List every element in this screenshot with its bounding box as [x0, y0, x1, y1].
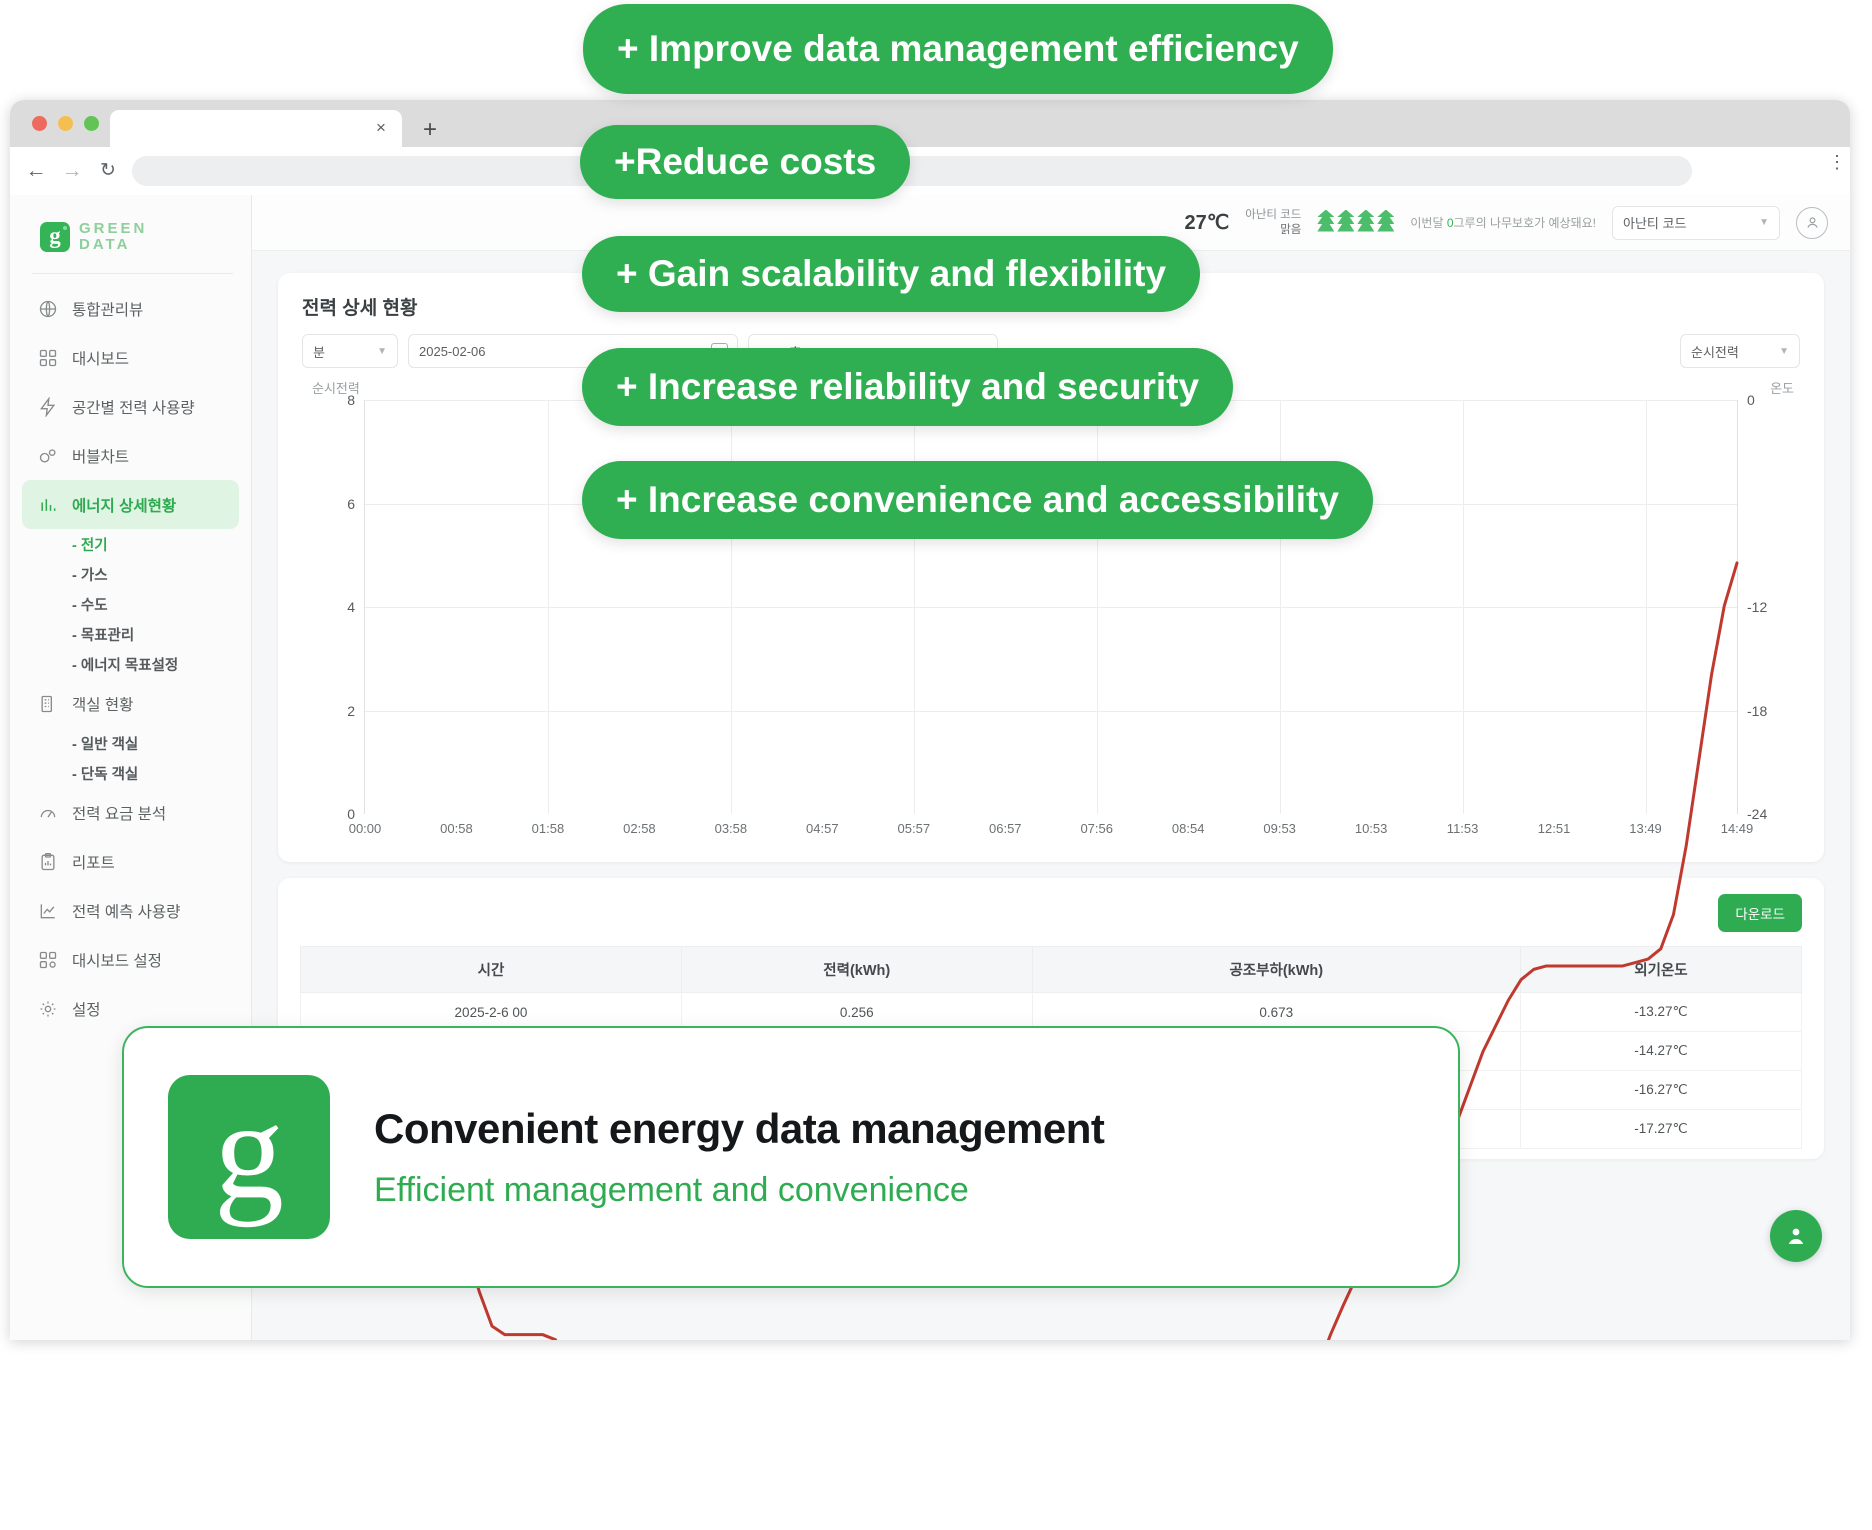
avatar[interactable] — [1796, 207, 1828, 239]
y-axis-label-right: 온도 — [1770, 378, 1794, 397]
energy-chart: 순시전력 온도 02468-24-18-12000:0000:5801:5802… — [302, 378, 1800, 848]
tree-icon — [1377, 210, 1394, 236]
browser-menu-icon[interactable]: ⋮ — [1828, 158, 1834, 184]
tree-icon — [1337, 210, 1354, 236]
grid-gear-icon — [38, 950, 58, 970]
tree-note-prefix: 이번달 — [1410, 216, 1446, 230]
benefit-pill-3: + Gain scalability and flexibility — [582, 236, 1200, 312]
support-fab-button[interactable] — [1770, 1210, 1822, 1262]
chevron-down-icon: ▼ — [1759, 217, 1769, 228]
weather-condition: 맑음 — [1245, 223, 1301, 237]
brand-line-2: DATA — [79, 237, 147, 253]
chevron-down-icon: ▼ — [377, 346, 387, 357]
sidebar-item-dashboard[interactable]: 대시보드 — [22, 333, 239, 382]
trend-icon — [38, 901, 58, 921]
benefit-pill-1: + Improve data management efficiency — [583, 4, 1333, 94]
browser-titlebar: × + — [10, 100, 1850, 147]
y-axis-tick: 2 — [347, 703, 355, 719]
temperature-value: 27℃ — [1185, 210, 1230, 235]
bolt-icon — [38, 397, 58, 417]
sidebar-item-power-rate-analysis[interactable]: 전력 요금 분석 — [22, 788, 239, 837]
benefit-pill-5: + Increase convenience and accessibility — [582, 461, 1373, 539]
site-select-value: 아난티 코드 — [1623, 213, 1686, 232]
sidebar-subitem-gas[interactable]: - 가스 — [10, 559, 251, 589]
sidebar-item-integrated-view[interactable]: 통합관리뷰 — [22, 284, 239, 333]
clipboard-icon — [38, 852, 58, 872]
banner-logo-icon: g — [168, 1075, 330, 1239]
unit-select-value: 분 — [313, 342, 325, 361]
weather-place: 아난티 코드 — [1245, 208, 1301, 222]
metric-select[interactable]: 순시전력 ▼ — [1680, 334, 1800, 368]
sidebar-subitem-energy-goal-setting[interactable]: - 에너지 목표설정 — [10, 649, 251, 679]
y-axis-tick: 8 — [347, 392, 355, 408]
gauge-icon — [38, 803, 58, 823]
y-axis-tick-right: -12 — [1747, 599, 1767, 615]
brand-line-1: GREEN — [79, 221, 147, 237]
globe-icon — [38, 299, 58, 319]
sidebar-divider — [32, 273, 233, 274]
banner-subline: Efficient management and convenience — [374, 1171, 1104, 1210]
support-agent-icon — [1784, 1224, 1808, 1248]
sidebar-item-label: 공간별 전력 사용량 — [72, 396, 195, 418]
sidebar-subitem-private-room[interactable]: - 단독 객실 — [10, 758, 251, 788]
sidebar-item-label: 대시보드 — [72, 347, 129, 369]
back-icon[interactable]: ← — [24, 159, 48, 183]
building-icon — [38, 694, 58, 714]
maximize-window-button[interactable] — [84, 116, 99, 131]
weather-info: 아난티 코드 맑음 — [1245, 208, 1301, 237]
sidebar-item-label: 전력 예측 사용량 — [72, 900, 180, 922]
banner-headline: Convenient energy data management — [374, 1105, 1104, 1153]
browser-tab[interactable]: × — [110, 110, 402, 147]
browser-navbar: ← → ↻ ⋮ — [10, 147, 1850, 195]
tree-icon — [1357, 210, 1374, 236]
sidebar-subitem-goal-management[interactable]: - 목표관리 — [10, 619, 251, 649]
sidebar-item-label: 통합관리뷰 — [72, 298, 143, 320]
sidebar-item-dashboard-settings[interactable]: 대시보드 설정 — [22, 935, 239, 984]
site-select[interactable]: 아난티 코드 ▼ — [1612, 206, 1780, 240]
benefit-pill-4: + Increase reliability and security — [582, 348, 1233, 426]
y-axis-tick-right: 0 — [1747, 392, 1755, 408]
benefit-pill-2: +Reduce costs — [580, 125, 910, 199]
sidebar-subitem-electricity[interactable]: - 전기 — [10, 529, 251, 559]
bubble-icon — [38, 446, 58, 466]
sidebar-subitem-water[interactable]: - 수도 — [10, 589, 251, 619]
unit-select[interactable]: 분 ▼ — [302, 334, 398, 368]
sidebar-item-bubble-chart[interactable]: 버블차트 — [22, 431, 239, 480]
tree-icon — [1317, 210, 1334, 236]
banner-logo-letter: g — [214, 1081, 284, 1221]
sidebar-item-label: 대시보드 설정 — [72, 949, 162, 971]
close-window-button[interactable] — [32, 116, 47, 131]
y-axis-tick: 6 — [347, 496, 355, 512]
window-controls[interactable] — [32, 116, 99, 131]
minimize-window-button[interactable] — [58, 116, 73, 131]
sidebar-item-space-power-usage[interactable]: 공간별 전력 사용량 — [22, 382, 239, 431]
grid-icon — [38, 348, 58, 368]
chevron-down-icon: ▼ — [1779, 346, 1789, 357]
close-tab-icon[interactable]: × — [372, 119, 390, 137]
sidebar-item-label: 에너지 상세현황 — [72, 494, 176, 516]
tree-saving-note: 이번달 0그루의 나무보호가 예상돼요! — [1410, 214, 1596, 231]
tree-progress — [1317, 210, 1394, 236]
forward-icon[interactable]: → — [60, 159, 84, 183]
sidebar-item-report[interactable]: 리포트 — [22, 837, 239, 886]
y-axis-tick: 0 — [347, 806, 355, 822]
y-axis-tick: 4 — [347, 599, 355, 615]
tree-note-count: 0 — [1447, 216, 1454, 230]
bar-chart-icon — [38, 495, 58, 515]
sidebar-subitem-general-room[interactable]: - 일반 객실 — [10, 728, 251, 758]
bottom-banner: g Convenient energy data management Effi… — [122, 1026, 1460, 1288]
brand-logo: g GREEN DATA — [10, 211, 251, 267]
tree-note-suffix: 그루의 나무보호가 예상돼요! — [1454, 216, 1596, 230]
sidebar-item-energy-detail[interactable]: 에너지 상세현황 — [22, 480, 239, 529]
user-icon — [1804, 214, 1821, 231]
metric-select-value: 순시전력 — [1691, 342, 1739, 361]
reload-icon[interactable]: ↻ — [96, 159, 120, 183]
sidebar-item-label: 객실 현황 — [72, 693, 133, 715]
sidebar-item-label: 설정 — [72, 998, 101, 1020]
y-axis-tick-right: -24 — [1747, 806, 1767, 822]
sidebar-item-power-forecast-usage[interactable]: 전력 예측 사용량 — [22, 886, 239, 935]
address-bar[interactable] — [132, 156, 1692, 186]
gear-icon — [38, 999, 58, 1019]
sidebar-item-label: 버블차트 — [72, 445, 129, 467]
brand-mark-icon: g — [40, 222, 70, 252]
sidebar-item-room-status[interactable]: 객실 현황 — [22, 679, 239, 728]
sidebar-item-label: 전력 요금 분석 — [72, 802, 166, 824]
date-input-value: 2025-02-06 — [419, 344, 486, 359]
y-axis-tick-right: -18 — [1747, 703, 1767, 719]
new-tab-icon[interactable]: + — [423, 120, 437, 140]
sidebar-item-label: 리포트 — [72, 851, 115, 873]
